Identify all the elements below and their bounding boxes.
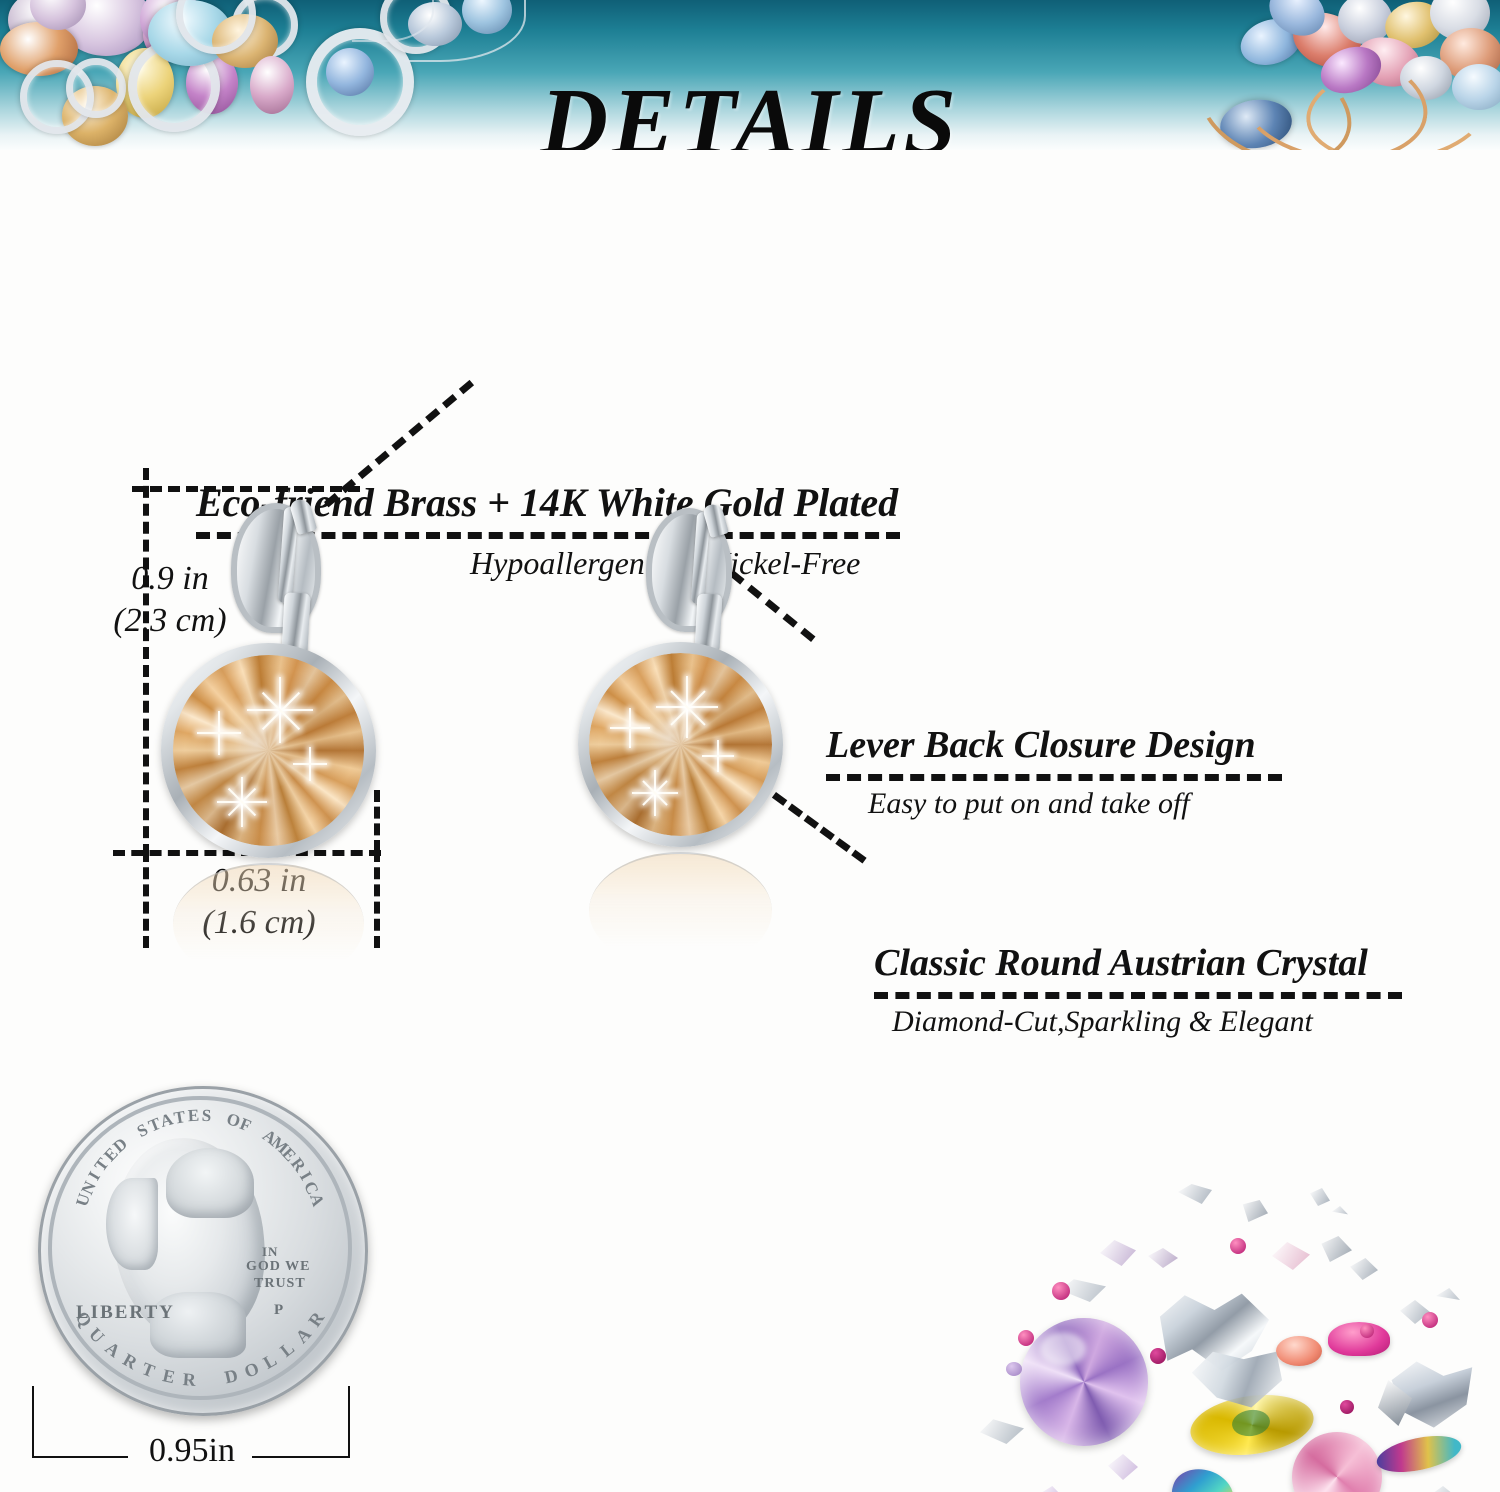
crystal-pink-round: [1292, 1432, 1382, 1492]
annotation-crystal: Classic Round Austrian Crystal Diamond-C…: [874, 940, 1402, 1041]
earring-right-reflection: [589, 852, 772, 970]
annotation-lever-back-rule: [826, 774, 1282, 781]
crystal-shard: [1178, 1184, 1212, 1204]
crystal-shard: [1272, 1242, 1310, 1270]
crystal-shard: [1100, 1240, 1136, 1266]
annotation-lever-back-subtitle: Easy to put on and take off: [868, 785, 1282, 823]
crystal-purple-round: [1020, 1318, 1148, 1446]
earring-right-crystal: [589, 653, 772, 836]
coin-motto-line3: TRUST: [254, 1276, 306, 1292]
coin-bracket-right-tick: [348, 1386, 350, 1458]
crystal-shard: [1436, 1288, 1460, 1308]
coin-bracket-left-tick: [32, 1386, 34, 1458]
coin-mintmark: P: [274, 1302, 284, 1319]
dimension-line-left: [143, 468, 149, 856]
dimension-line-width-right: [374, 850, 380, 948]
crystal-scatter: [940, 1170, 1500, 1492]
crystal-bead: [1360, 1324, 1374, 1338]
coin-legend-char: R: [119, 1349, 141, 1374]
content-area: Eco-friend Brass + 14K White Gold Plated…: [0, 150, 1500, 1492]
crystal-rainbow-pear: [1166, 1462, 1240, 1492]
dimension-line-width-left: [143, 850, 149, 948]
annotation-crystal-rule: [874, 992, 1402, 999]
crystal-shard: [1148, 1248, 1178, 1268]
coin-liberty-label: LIBERTY: [76, 1302, 175, 1324]
annotation-crystal-title: Classic Round Austrian Crystal: [874, 940, 1402, 986]
annotation-lever-back-title: Lever Back Closure Design: [826, 722, 1282, 768]
coin-legend-char: D: [223, 1365, 240, 1388]
coin-bracket-line-right: [252, 1456, 350, 1458]
earring-left-crystal: [173, 655, 364, 846]
coin-motto-line2: GOD WE: [246, 1259, 310, 1275]
crystal-shard: [1108, 1454, 1138, 1480]
crystal-magenta-cabochon: [1328, 1322, 1390, 1356]
crystal-purple-round-highlight: [1040, 1332, 1086, 1366]
page-title: DETAILS: [0, 73, 1500, 150]
crystal-shard: [1350, 1258, 1378, 1280]
coin-dimension-label: 0.95in: [138, 1432, 246, 1470]
crystal-bead: [1150, 1348, 1166, 1364]
crystal-salmon-cabochon: [1276, 1336, 1322, 1366]
detail-page: DETAILS Eco-friend Brass + 14K White Gol…: [0, 0, 1500, 1492]
coin-legend-char: A: [291, 1324, 315, 1348]
coin-portrait-face: [106, 1178, 158, 1270]
crystal-bead: [1006, 1362, 1022, 1376]
header-banner: DETAILS: [0, 0, 1500, 150]
earring-left-reflection: [173, 863, 364, 985]
crystal-bead: [1052, 1282, 1070, 1300]
coin-legend-char: E: [161, 1365, 177, 1388]
crystal-bead: [1422, 1312, 1438, 1328]
crystal-bead: [1340, 1400, 1354, 1414]
annotation-lever-back: Lever Back Closure Design Easy to put on…: [826, 722, 1282, 823]
coin-portrait-hair: [166, 1148, 254, 1218]
dimension-height-in: 0.9 in: [100, 558, 240, 600]
dimension-height-label: 0.9 in (2.3 cm): [100, 558, 240, 642]
coin-legend-char: R: [182, 1369, 197, 1391]
coin-legend-char: U: [84, 1324, 108, 1348]
crystal-bead: [1230, 1238, 1246, 1254]
coin-bracket-line-left: [32, 1456, 128, 1458]
crystal-shard: [1318, 1236, 1352, 1262]
coin-legend-char: R: [304, 1308, 329, 1331]
crystal-shard: [1428, 1486, 1458, 1492]
crystal-shard: [1332, 1206, 1348, 1220]
dimension-height-cm: (2.3 cm): [100, 600, 240, 642]
annotation-crystal-subtitle: Diamond-Cut,Sparkling & Elegant: [892, 1003, 1402, 1041]
crystal-bead: [1018, 1330, 1034, 1346]
coin-legend-char: T: [139, 1358, 158, 1382]
coin-legend-char: O: [241, 1358, 262, 1383]
crystal-shard: [1240, 1200, 1268, 1222]
coin-legend-char: L: [277, 1338, 299, 1362]
coin-legend-char: L: [260, 1349, 281, 1373]
crystal-shard: [980, 1418, 1024, 1444]
crystal-shard: [1310, 1188, 1330, 1206]
dimension-line-right: [374, 790, 380, 852]
quarter-coin: UNITED STATES OF AMERICA QUARTER DOLLAR …: [38, 1086, 368, 1416]
dimension-line-top: [132, 486, 360, 492]
coin-legend-char: A: [101, 1337, 124, 1362]
coin-motto-line1: IN: [262, 1244, 278, 1260]
crystal-rainbow-marquise: [1374, 1429, 1465, 1478]
crystal-shard: [1038, 1486, 1064, 1492]
